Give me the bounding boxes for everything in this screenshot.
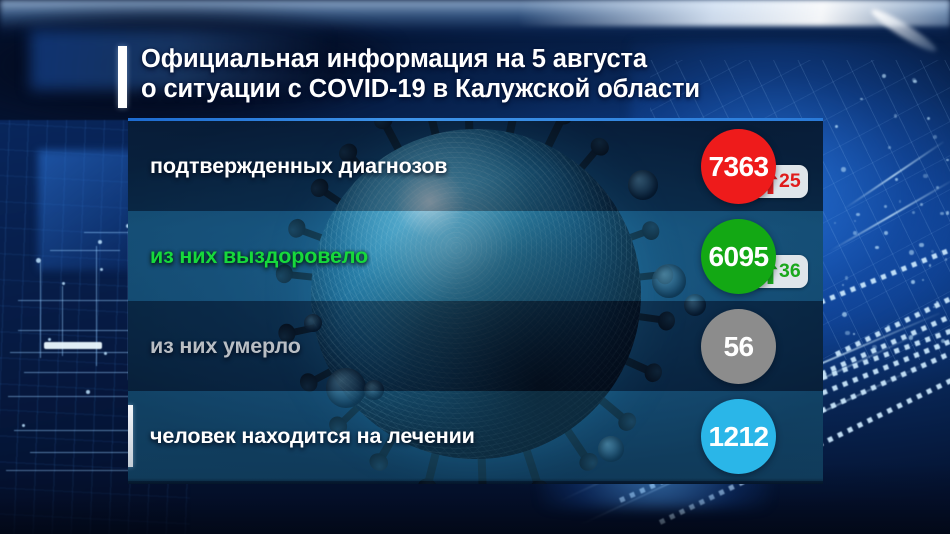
city-light-dot xyxy=(875,246,878,249)
circuit-trace xyxy=(40,262,41,358)
city-light-dot xyxy=(854,220,856,222)
row-value-badge: 1212 xyxy=(701,399,776,474)
city-light-dot xyxy=(936,301,938,303)
daily-change-value: 25 xyxy=(779,172,801,192)
circuit-node xyxy=(36,258,41,263)
row-label: из них выздоровело xyxy=(150,244,368,269)
row-value-badge: 6095 xyxy=(701,219,776,294)
row-value-group: 366095 xyxy=(701,211,823,301)
row-value-badge: 56 xyxy=(701,309,776,384)
city-light-dot xyxy=(933,135,937,139)
circuit-node xyxy=(86,390,90,394)
circuit-node xyxy=(104,352,107,355)
row-label: из них умерло xyxy=(150,334,301,359)
city-light-dot xyxy=(931,250,934,253)
row-label: подтвержденных диагнозов xyxy=(150,154,447,179)
statistic-row: из них умерло56 xyxy=(128,301,823,391)
headline-line-2: о ситуации с COVID-19 в Калужской област… xyxy=(141,74,700,104)
city-light-dot xyxy=(909,250,914,255)
statistic-row: из них выздоровело366095 xyxy=(128,211,823,301)
headline-line-1: Официальная информация на 5 августа xyxy=(141,44,700,74)
background-left-panel-glow xyxy=(38,150,133,270)
infographic-stage: Официальная информация на 5 августа о си… xyxy=(0,0,950,534)
circuit-node xyxy=(62,282,65,285)
city-light-dot xyxy=(856,213,859,216)
row-value-group: 1212 xyxy=(701,391,823,481)
row-label: человек находится на лечении xyxy=(150,424,475,449)
circuit-node xyxy=(48,338,51,341)
city-light-dot xyxy=(872,345,876,349)
city-light-dot xyxy=(845,331,850,336)
city-light-dot xyxy=(853,231,857,235)
city-light-dot xyxy=(923,174,927,178)
city-light-dot xyxy=(935,345,939,349)
city-light-dot xyxy=(933,306,935,308)
city-light-dot xyxy=(887,325,891,329)
circuit-trace xyxy=(50,250,120,251)
row-value-group: 56 xyxy=(701,301,823,391)
circuit-trace xyxy=(18,300,138,301)
panel-top-highlight xyxy=(128,118,823,121)
city-light-dot xyxy=(895,178,897,180)
statistic-row: подтвержденных диагнозов257363 xyxy=(128,121,823,211)
city-light-dot xyxy=(835,125,838,128)
panel-bottom-fade xyxy=(128,478,823,484)
headline: Официальная информация на 5 августа о си… xyxy=(118,44,818,114)
headline-text: Официальная информация на 5 августа о си… xyxy=(141,44,700,104)
daily-change-value: 36 xyxy=(779,262,801,282)
circuit-chip-highlight xyxy=(44,342,102,349)
city-light-dot xyxy=(919,243,923,247)
statistic-row: человек находится на лечении1212 xyxy=(128,391,823,481)
circuit-node xyxy=(22,424,25,427)
statistics-panel: подтвержденных диагнозов257363из них выз… xyxy=(128,118,823,484)
headline-accent-bar xyxy=(118,46,127,108)
city-light-dot xyxy=(845,276,849,280)
city-light-dot xyxy=(841,167,846,172)
row-value-badge: 7363 xyxy=(701,129,776,204)
city-light-dot xyxy=(842,312,847,317)
circuit-node xyxy=(98,240,102,244)
city-light-dot xyxy=(888,146,891,149)
row-accent-bar xyxy=(128,405,133,467)
row-value-group: 257363 xyxy=(701,121,823,211)
circuit-node xyxy=(100,268,103,271)
